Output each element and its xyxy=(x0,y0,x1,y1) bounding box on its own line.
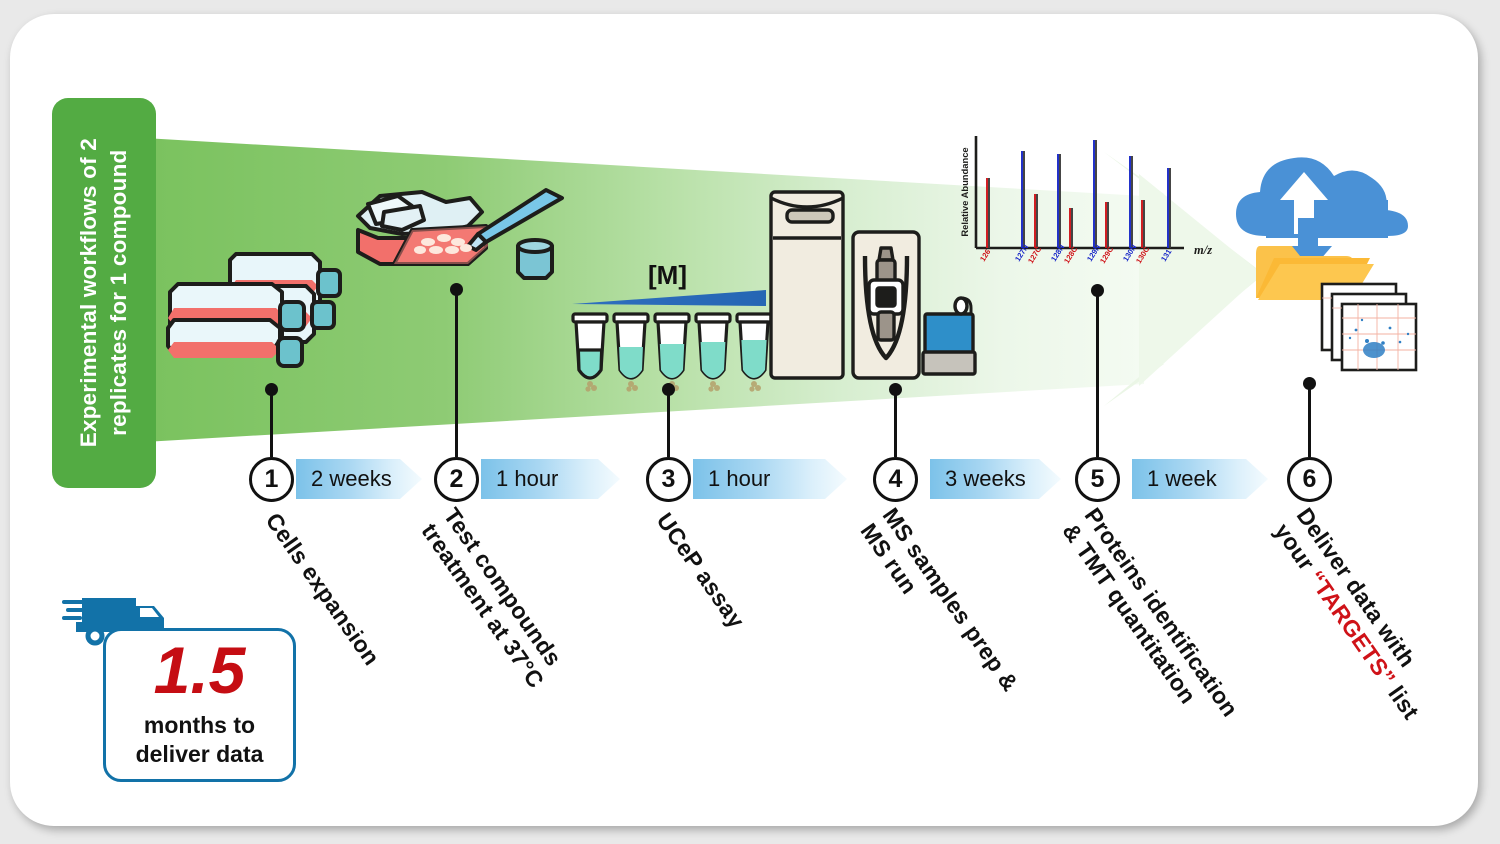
delivery-time-unit: months to deliver data xyxy=(106,711,293,770)
stem-1 xyxy=(270,389,273,457)
tick-126: 126 xyxy=(978,248,992,264)
duration-chevron-1: 2 weeks xyxy=(296,459,422,499)
step-caption-4: MS samples prep & MS run xyxy=(855,503,1024,712)
diagram-card: Experimental workflows of 2 replicates f… xyxy=(10,14,1478,826)
cell-culture-flasks-icon xyxy=(160,246,380,391)
side-label-line1: Experimental workflows of 2 xyxy=(74,138,104,447)
stem-4 xyxy=(894,389,897,457)
step-caption-5: Proteins identification & TMT quantitati… xyxy=(1057,503,1244,738)
stem-5 xyxy=(1096,290,1099,457)
spectrum-ylabel: Relative Abundance xyxy=(959,147,970,236)
duration-chevron-3: 1 hour xyxy=(693,459,847,499)
step-caption-3: UCeP assay xyxy=(651,508,750,634)
stem-3 xyxy=(667,389,670,457)
delivery-time-unit-line1: months to xyxy=(106,711,293,740)
side-label-panel: Experimental workflows of 2 replicates f… xyxy=(52,98,156,488)
delivery-time-badge: 1.5 months to deliver data xyxy=(103,628,296,782)
cloud-upload-folder-icon xyxy=(1222,138,1437,388)
delivery-time-value: 1.5 xyxy=(106,632,293,708)
tick-131: 131 xyxy=(1159,247,1174,263)
step-caption-6-line2: your “TARGETS” list xyxy=(1269,519,1425,725)
stem-2 xyxy=(455,289,458,457)
side-label-text: Experimental workflows of 2 replicates f… xyxy=(74,138,133,447)
step-caption-2: Test compounds treatment at 37°C xyxy=(416,503,572,693)
delivery-time-unit-line2: deliver data xyxy=(106,740,293,769)
workflow-diagram: Experimental workflows of 2 replicates f… xyxy=(0,0,1500,844)
microcentrifuge-tubes-icon: [M] xyxy=(570,262,775,392)
duration-chevron-5: 1 week xyxy=(1132,459,1268,499)
step-number-1[interactable]: 1 xyxy=(249,457,294,502)
duration-chevron-2: 1 hour xyxy=(481,459,620,499)
step-caption-6: Deliver data with your “TARGETS” list xyxy=(1269,503,1447,725)
concentration-label: [M] xyxy=(648,260,687,291)
step-caption-5-line1: Proteins identification xyxy=(1079,503,1244,722)
step-number-3[interactable]: 3 xyxy=(646,457,691,502)
spectrum-xlabel: m/z xyxy=(1194,243,1212,257)
petri-dish-pipette-icon xyxy=(350,186,565,296)
step-number-4[interactable]: 4 xyxy=(873,457,918,502)
step-number-2[interactable]: 2 xyxy=(434,457,479,502)
step-number-6[interactable]: 6 xyxy=(1287,457,1332,502)
stem-6 xyxy=(1308,383,1311,457)
step-number-5[interactable]: 5 xyxy=(1075,457,1120,502)
step-caption-5-line2: & TMT quantitation xyxy=(1057,519,1222,738)
duration-chevron-4: 3 weeks xyxy=(930,459,1061,499)
mass-spectrum-icon: Relative Abundance m/z xyxy=(948,130,1223,285)
side-label-line2: replicates for 1 compound xyxy=(104,138,134,447)
step-caption-3-line1: UCeP assay xyxy=(651,508,750,634)
